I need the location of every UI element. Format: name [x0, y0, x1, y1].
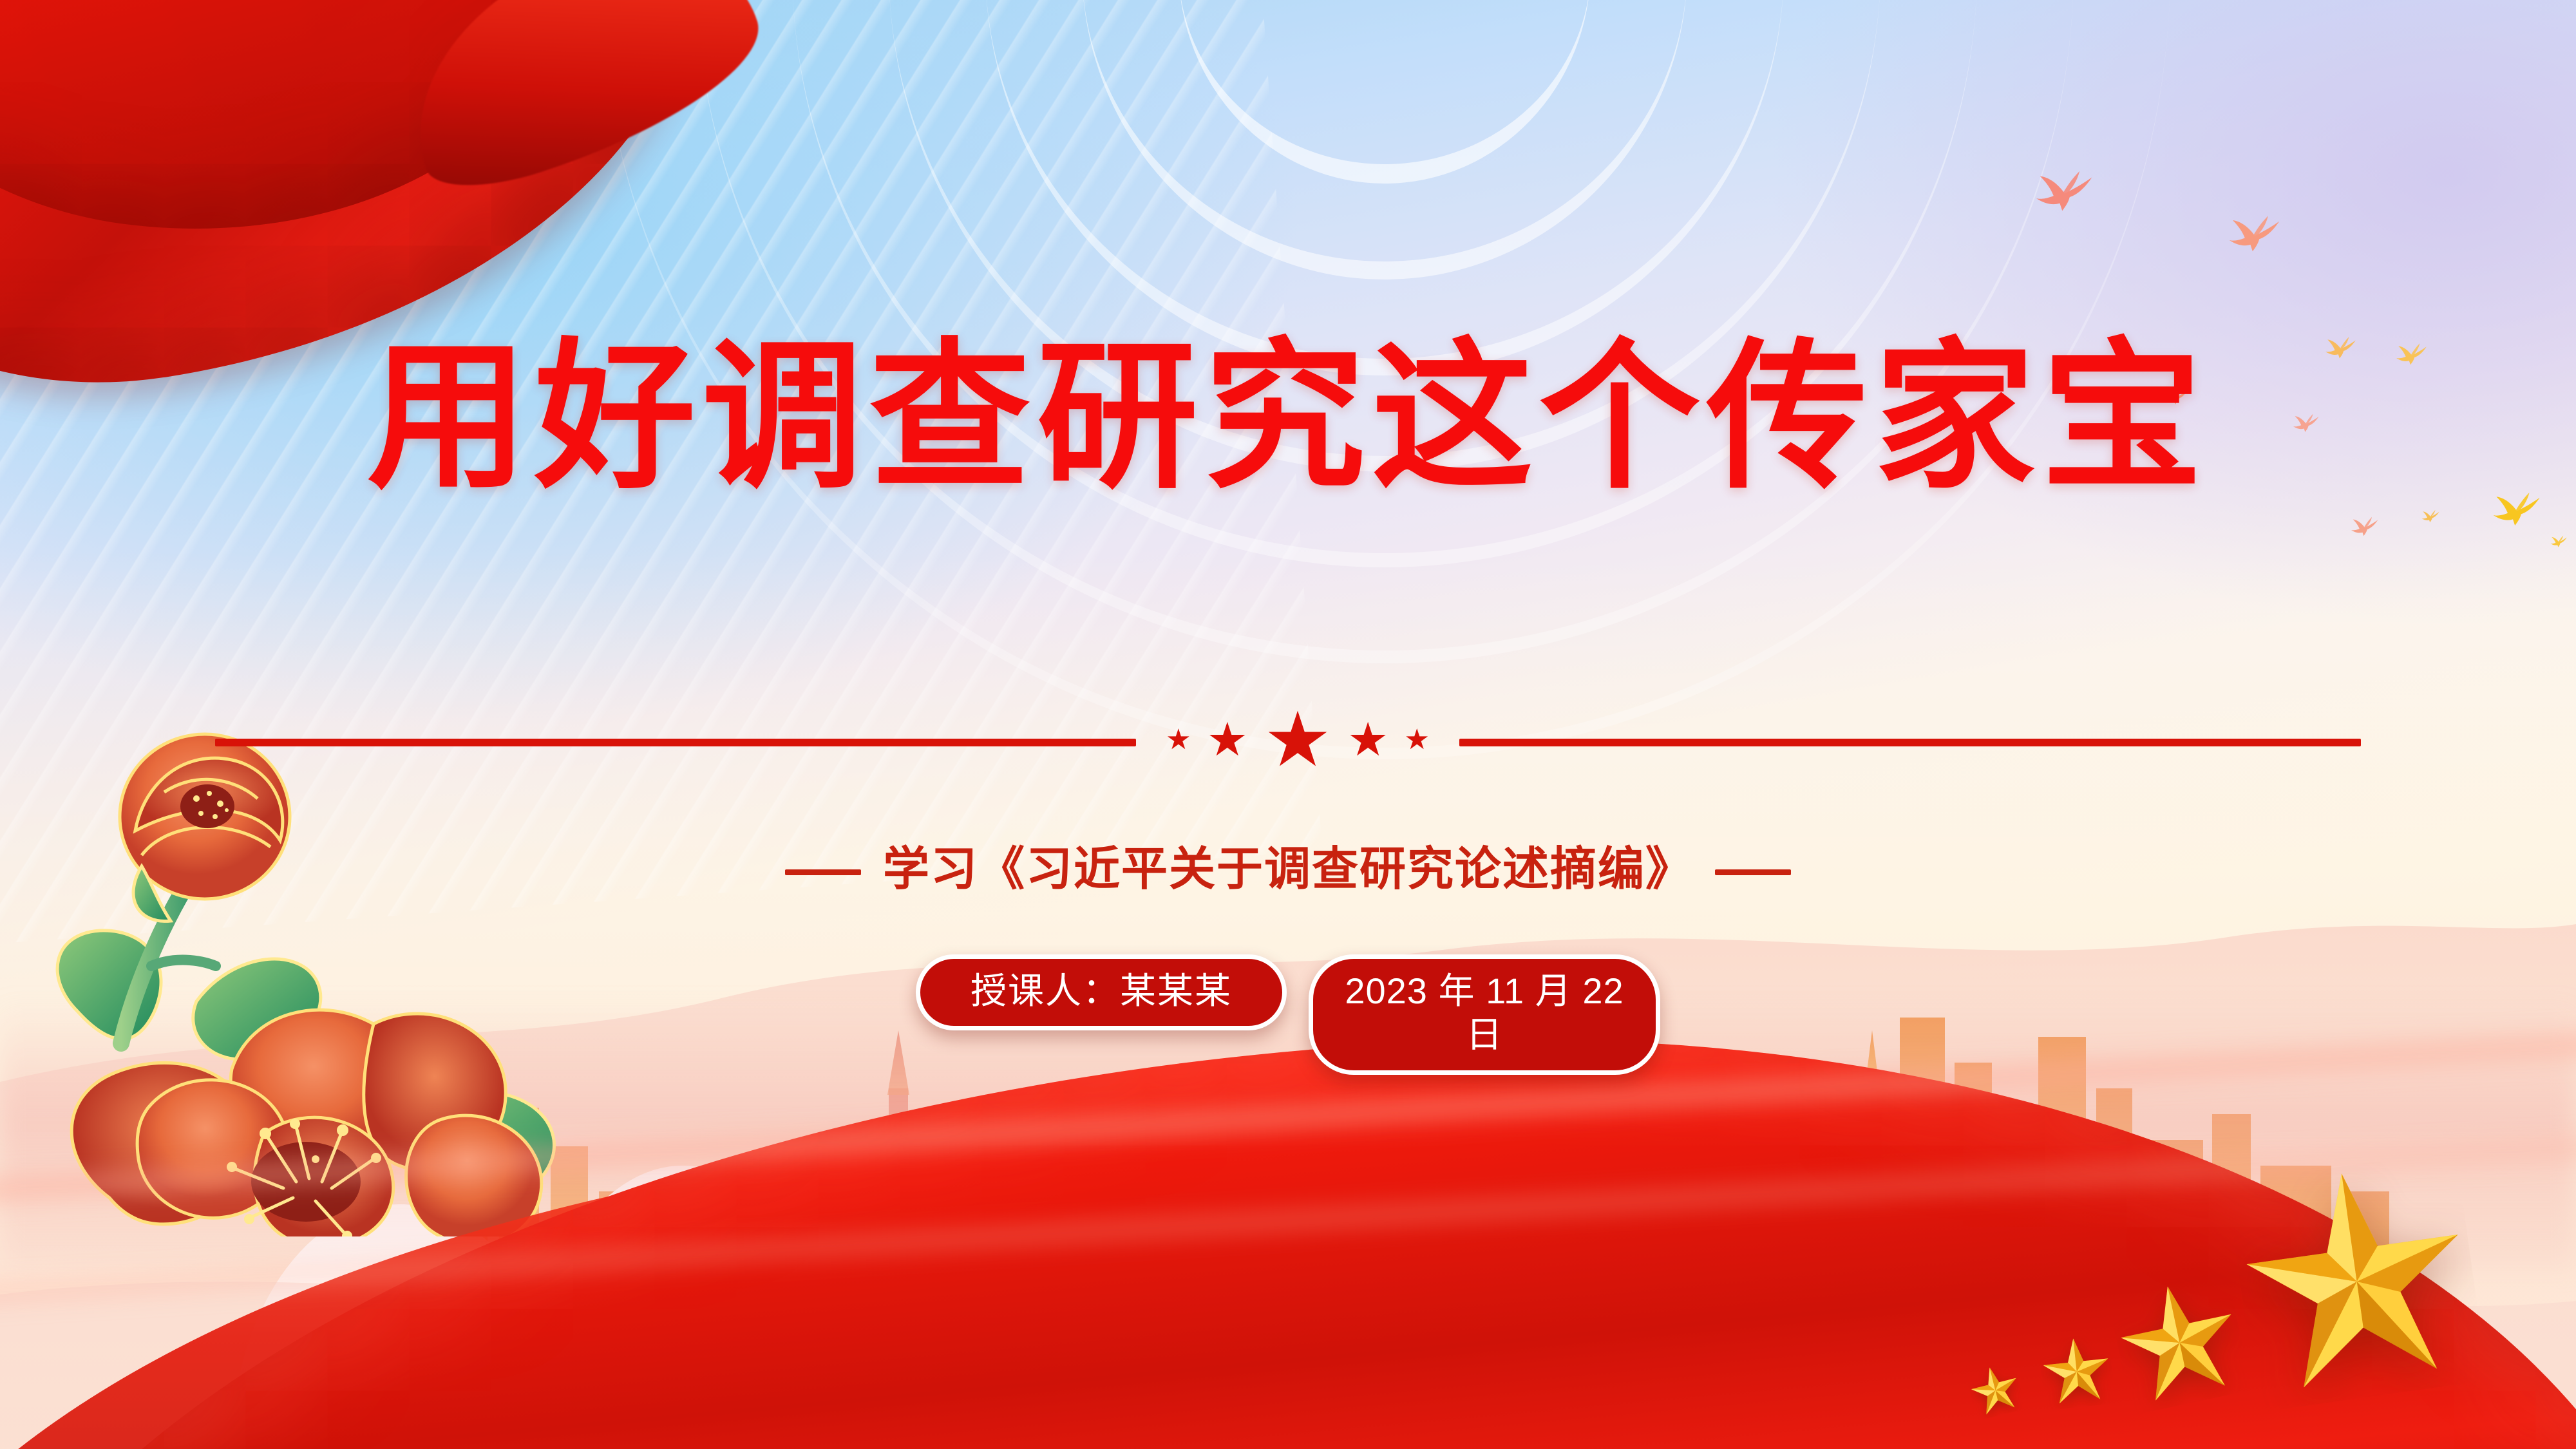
subtitle-dash-right — [1715, 869, 1791, 875]
page-title: 用好调查研究这个传家宝 — [0, 327, 2576, 507]
divider-star-1: ★ — [1166, 726, 1191, 754]
gold-star-2 — [2107, 1270, 2253, 1418]
divider-star-3: ★ — [1264, 702, 1332, 778]
dove-icon-1 — [2035, 167, 2097, 220]
divider-line-left — [215, 739, 1136, 746]
subtitle-text: 学习《习近平关于调查研究论述摘编》 — [883, 844, 1693, 895]
subtitle-dash-left — [785, 869, 861, 875]
info-badges: 授课人：某某某 2023 年 11 月 22 日 — [0, 954, 2576, 1075]
dove-icon-8 — [2421, 509, 2441, 527]
divider-star-4: ★ — [1347, 717, 1389, 763]
divider-star-5: ★ — [1404, 726, 1429, 754]
gold-star-1 — [2226, 1151, 2488, 1416]
divider-stars: ★★★★★ — [1166, 702, 1430, 778]
dove-icon-10 — [2550, 535, 2568, 552]
subtitle: 学习《习近平关于调查研究论述摘编》 — [0, 831, 2576, 898]
dove-icon-7 — [2351, 515, 2380, 542]
presenter-badge[interactable]: 授课人：某某某 — [916, 954, 1287, 1030]
dove-icon-2 — [2228, 213, 2284, 260]
gold-star-3 — [2038, 1333, 2116, 1414]
divider-line-right — [1459, 739, 2361, 746]
slide-canvas: 用好调查研究这个传家宝 ★★★★★ 学习《习近平关于调查研究论述摘编》 授课人：… — [0, 0, 2576, 1449]
date-badge[interactable]: 2023 年 11 月 22 日 — [1309, 954, 1660, 1075]
star-divider: ★★★★★ — [0, 701, 2576, 784]
divider-star-2: ★ — [1207, 717, 1249, 763]
